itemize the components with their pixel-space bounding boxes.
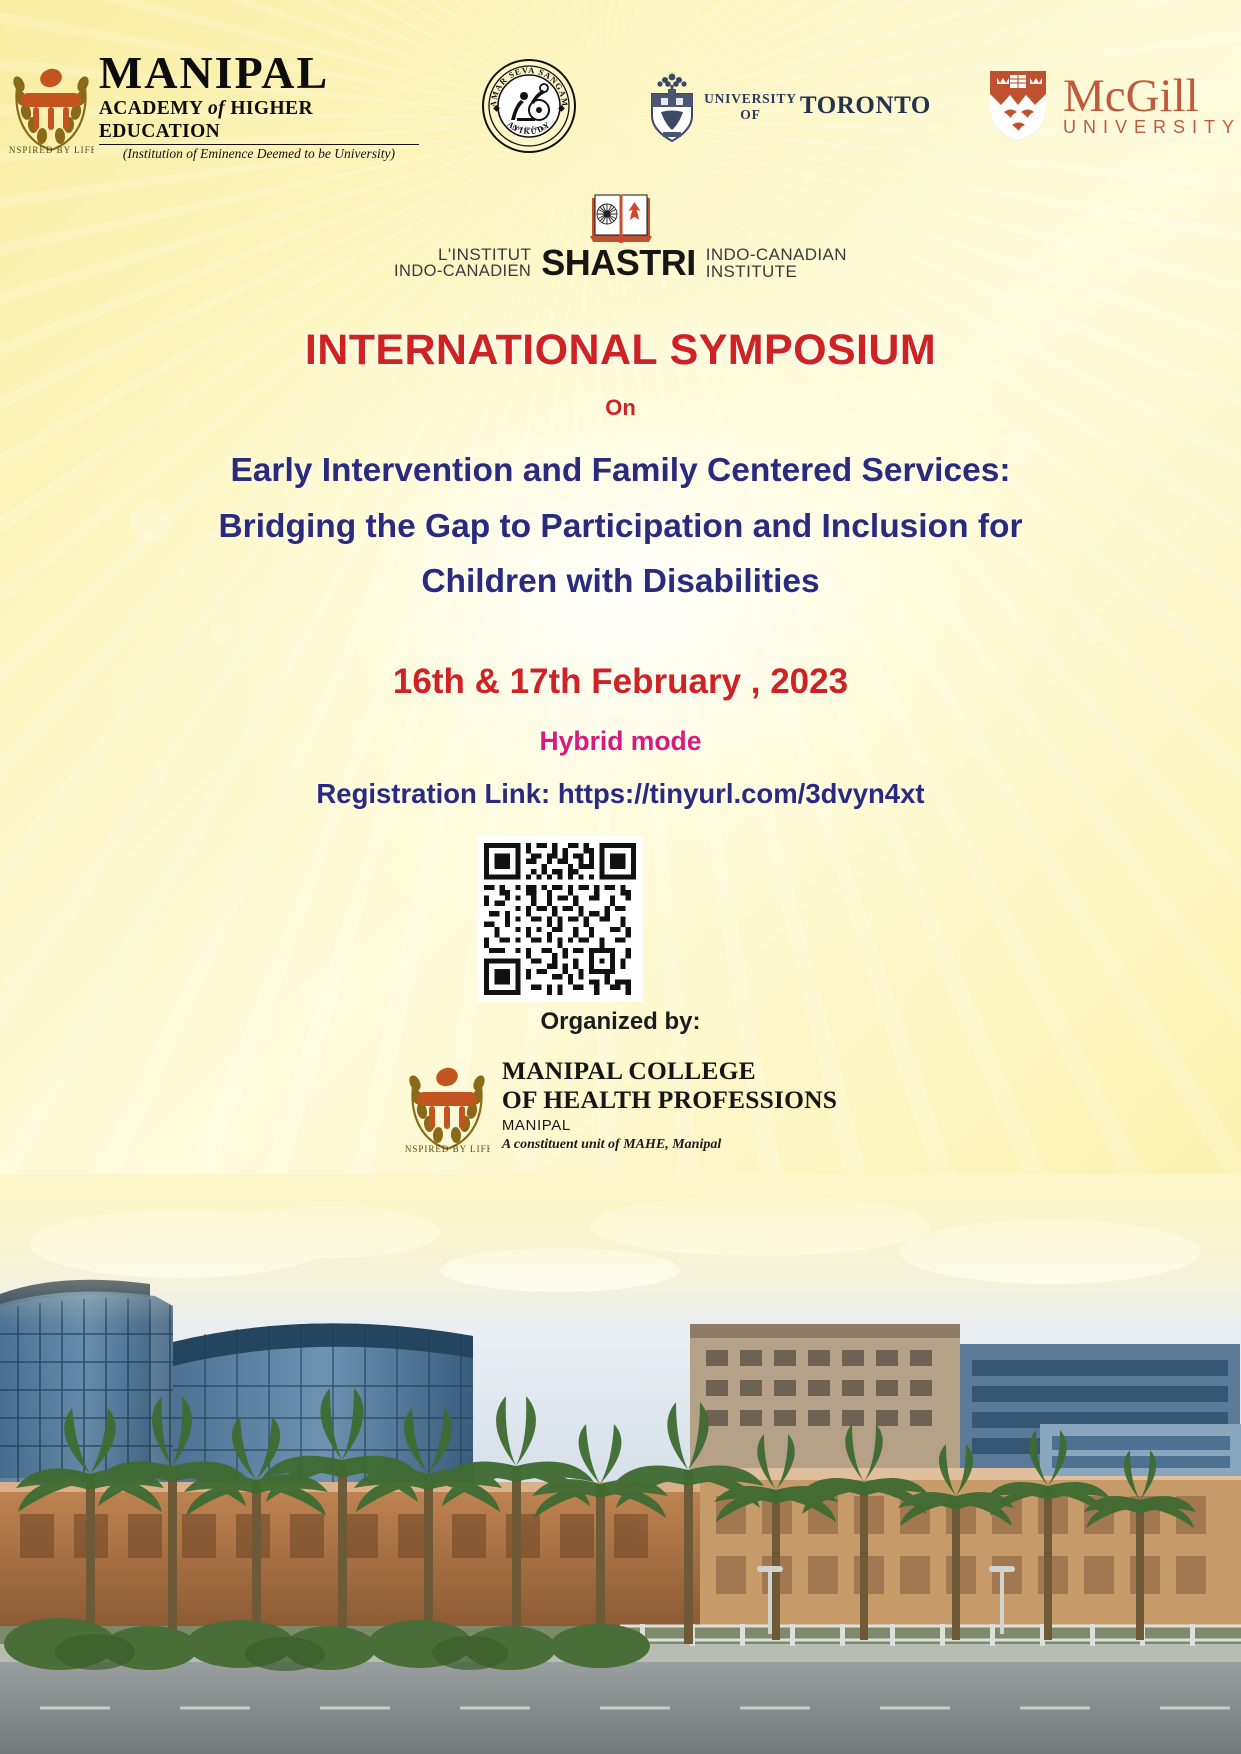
toronto-line1: UNIVERSITY OF (701, 91, 800, 123)
logo-amar-seva-sangam: AMAR SEVA SANGAM AYIKUDY Live to Serve (481, 58, 577, 154)
campus-photo-illustration (0, 1174, 1241, 1754)
event-mode: Hybrid mode (0, 726, 1241, 757)
mahe-subtext: (Institution of Eminence Deemed to be Un… (99, 144, 419, 162)
poster: INSPIRED BY LIFE MANIPAL ACADEMY of HIGH… (0, 0, 1241, 1754)
event-subtitle: Early Intervention and Family Centered S… (0, 443, 1241, 610)
mahe-tagline-a: ACADEMY (99, 98, 203, 119)
event-subtitle-line-3: Children with Disabilities (0, 554, 1241, 610)
organized-by-label: Organized by: (0, 1008, 1241, 1036)
toronto-crest-icon (643, 69, 701, 143)
mcgill-line2: UNIVERSITY (1063, 117, 1241, 138)
shastri-left-text: L'INSTITUT INDO-CANADIEN (394, 246, 531, 280)
bokeh-dot (210, 618, 236, 644)
mcgill-crest-icon (987, 68, 1049, 144)
logo-manipal-academy-of-higher-education: INSPIRED BY LIFE MANIPAL ACADEMY of HIGH… (8, 50, 419, 163)
mahe-name: MANIPAL (99, 50, 419, 96)
svg-text:INSPIRED BY LIFE: INSPIRED BY LIFE (404, 1144, 490, 1154)
bokeh-dot (300, 980, 330, 1010)
logo-mcgill-university: McGill UNIVERSITY (987, 68, 1241, 144)
organizer-line1: MANIPAL COLLEGE (502, 1057, 837, 1086)
toronto-line2: TORONTO (800, 93, 931, 119)
mahe-tagline: ACADEMY of HIGHER EDUCATION (99, 97, 419, 144)
shastri-left-line2: INDO-CANADIEN (394, 263, 531, 280)
svg-text:INSPIRED BY LIFE: INSPIRED BY LIFE (8, 145, 94, 155)
event-on-label: On (0, 395, 1241, 421)
logo-manipal-college-of-health-professions: INSPIRED BY LIFE MANIPAL COLLEGE OF HEAL… (0, 1056, 1241, 1154)
partner-logo-row: INSPIRED BY LIFE MANIPAL ACADEMY of HIGH… (0, 46, 1241, 166)
event-subtitle-line-2: Bridging the Gap to Participation and In… (0, 499, 1241, 555)
qr-code[interactable] (477, 836, 643, 1002)
event-subtitle-line-1: Early Intervention and Family Centered S… (0, 443, 1241, 499)
mcgill-line1: McGill (1063, 74, 1241, 119)
shastri-right-line2: INSTITUTE (706, 263, 847, 280)
qr-code-icon (484, 843, 636, 995)
shastri-left-line1: L'INSTITUT (394, 246, 531, 263)
shastri-book-icon (590, 186, 652, 244)
svg-text:Live to Serve: Live to Serve (511, 125, 546, 132)
bokeh-dot (1080, 620, 1104, 644)
shastri-right-line1: INDO-CANADIAN (706, 246, 847, 263)
shastri-wordmark: L'INSTITUT INDO-CANADIEN SHASTRI INDO-CA… (394, 245, 847, 281)
event-title: INTERNATIONAL SYMPOSIUM (0, 326, 1241, 375)
organizer-line4: A constituent unit of MAHE, Manipal (502, 1137, 837, 1153)
manipal-wreath-icon: INSPIRED BY LIFE (404, 1056, 490, 1154)
shastri-center-text: SHASTRI (541, 245, 696, 281)
organizer-line2: OF HEALTH PROFESSIONS (502, 1086, 837, 1115)
manipal-wreath-icon: INSPIRED BY LIFE (8, 57, 89, 155)
event-date: 16th & 17th February , 2023 (0, 662, 1241, 702)
registration-link[interactable]: Registration Link: https://tinyurl.com/3… (0, 778, 1241, 810)
mahe-tagline-of: of (208, 98, 225, 119)
organizer-line3: MANIPAL (502, 1117, 837, 1134)
logo-university-of-toronto: UNIVERSITY OF TORONTO (643, 69, 931, 143)
logo-shastri-indo-canadian-institute: L'INSTITUT INDO-CANADIEN SHASTRI INDO-CA… (0, 186, 1241, 281)
shastri-right-text: INDO-CANADIAN INSTITUTE (706, 246, 847, 281)
campus-photo (0, 1174, 1241, 1754)
